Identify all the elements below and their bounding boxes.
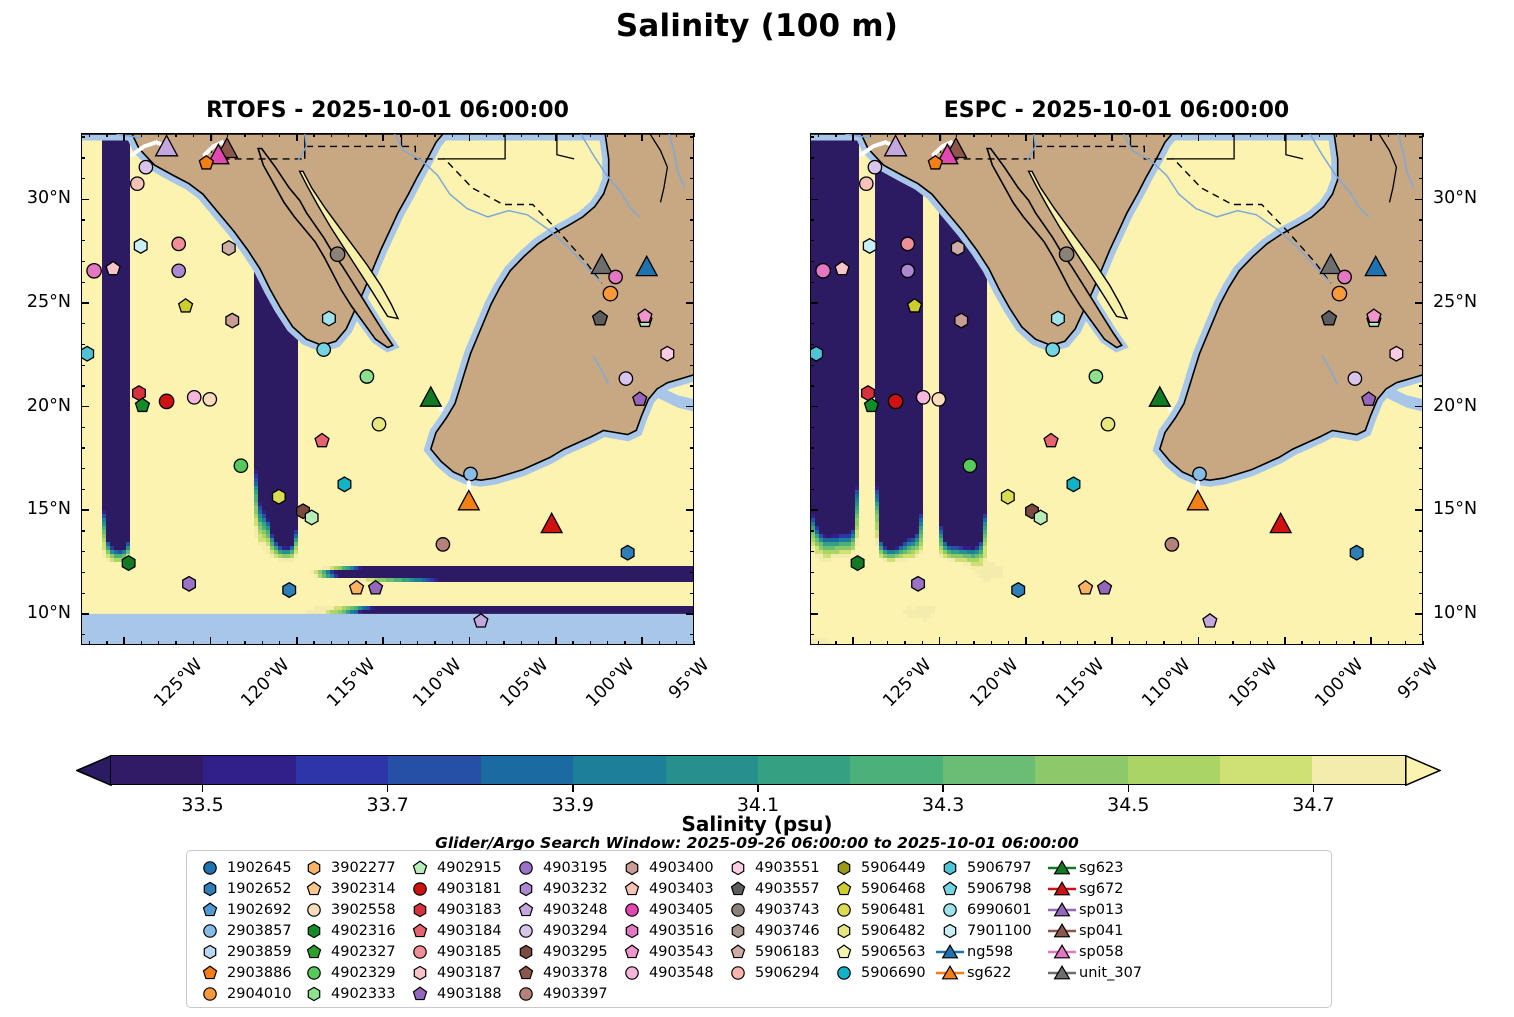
circle-marker-icon bbox=[723, 962, 753, 983]
colorbar-band-11 bbox=[1128, 756, 1220, 784]
legend-item-label: 2903859 bbox=[225, 944, 292, 960]
platform-marker-circle[interactable] bbox=[436, 538, 449, 551]
platform-marker-circle[interactable] bbox=[464, 467, 477, 480]
legend-item-label: 4902333 bbox=[329, 986, 396, 1002]
legend-item[interactable]: unit_307 bbox=[1047, 962, 1171, 983]
platform-marker-hexagon[interactable] bbox=[661, 346, 674, 361]
platform-marker-hexagon[interactable] bbox=[1012, 583, 1025, 598]
legend-item-label: 5906482 bbox=[859, 923, 926, 939]
platform-marker-circle[interactable] bbox=[860, 177, 873, 190]
colorbar-band-5 bbox=[573, 756, 665, 784]
legend-item-label: 4903188 bbox=[435, 986, 502, 1002]
legend-item-label: 4903181 bbox=[435, 881, 502, 897]
colorbar-tick bbox=[942, 785, 944, 792]
platform-marker-circle[interactable] bbox=[1059, 247, 1073, 261]
legend-item-label: 3902558 bbox=[329, 902, 396, 918]
legend-column-6: 5906449590646859064815906482590656359066… bbox=[829, 857, 935, 1003]
y-axis-tick-label: 15°N bbox=[1433, 499, 1513, 519]
legend-column-1: 3902277390231439025584902316490232749023… bbox=[299, 857, 405, 1003]
x-axis-tick-label: 120°W bbox=[237, 655, 293, 711]
circle-marker-icon bbox=[829, 962, 859, 983]
colorbar-cap-right-icon bbox=[1405, 755, 1441, 786]
platform-marker-circle[interactable] bbox=[868, 161, 881, 174]
y-axis-tick-label: 10°N bbox=[1433, 603, 1513, 623]
platform-marker-circle[interactable] bbox=[1165, 538, 1178, 551]
legend-item-label: 5906183 bbox=[753, 944, 820, 960]
platform-marker-hexagon[interactable] bbox=[1390, 346, 1403, 361]
legend-item-label: 4903557 bbox=[753, 881, 820, 897]
y-axis-tick-label: 25°N bbox=[1433, 292, 1513, 312]
platform-marker-circle[interactable] bbox=[619, 372, 632, 385]
platform-marker-circle[interactable] bbox=[603, 286, 617, 300]
platform-marker-circle[interactable] bbox=[963, 459, 976, 472]
platform-marker-circle[interactable] bbox=[901, 264, 914, 277]
legend-item-label: 4903183 bbox=[435, 902, 502, 918]
legend-item-label: 2903857 bbox=[225, 923, 292, 939]
legend-item[interactable]: 4902333 bbox=[299, 983, 405, 1004]
legend-item-label: 4903543 bbox=[647, 944, 714, 960]
y-axis-tick-label: 20°N bbox=[1433, 396, 1513, 416]
colorbar-cap-left-icon bbox=[76, 755, 112, 786]
legend-item-label: 5906797 bbox=[965, 860, 1032, 876]
y-axis-tick-label: 30°N bbox=[1433, 188, 1513, 208]
legend-item[interactable]: 5906294 bbox=[723, 962, 829, 983]
platform-marker-circle[interactable] bbox=[234, 459, 247, 472]
legend-item-label: 4903185 bbox=[435, 944, 502, 960]
circle-marker-icon bbox=[195, 983, 225, 1004]
platform-marker-hexagon[interactable] bbox=[955, 313, 968, 328]
x-axis-tick-label: 120°W bbox=[966, 655, 1022, 711]
platform-marker-circle[interactable] bbox=[932, 393, 945, 406]
platform-marker-circle[interactable] bbox=[188, 391, 201, 404]
circle-marker-icon bbox=[617, 962, 647, 983]
colorbar-tick bbox=[572, 785, 574, 792]
colorbar-band-2 bbox=[296, 756, 388, 784]
platform-marker-hexagon[interactable] bbox=[851, 556, 864, 571]
legend-item-label: 5906294 bbox=[753, 965, 820, 981]
platform-marker-circle[interactable] bbox=[1348, 372, 1361, 385]
platform-legend: 1902645190265219026922903857290385929038… bbox=[186, 850, 1332, 1008]
colorbar-tick bbox=[202, 785, 204, 792]
platform-marker-hexagon[interactable] bbox=[82, 346, 94, 361]
legend-item-label: 2903886 bbox=[225, 965, 292, 981]
platform-marker-hexagon[interactable] bbox=[1350, 545, 1363, 560]
colorbar-band-4 bbox=[481, 756, 573, 784]
x-axis-tick-label: 110°W bbox=[410, 655, 466, 711]
colorbar-title: Salinity (psu) bbox=[0, 812, 1514, 836]
legend-item-label: 4903743 bbox=[753, 902, 820, 918]
platform-marker-hexagon[interactable] bbox=[222, 241, 235, 256]
colorbar-band-13 bbox=[1312, 756, 1404, 784]
legend-item-label: 4903378 bbox=[541, 965, 608, 981]
map-panel-espc: ESPC - 2025-10-01 06:00:00 bbox=[810, 133, 1423, 645]
platform-marker-circle[interactable] bbox=[372, 418, 385, 431]
legend-item-label: 4903397 bbox=[541, 986, 608, 1002]
legend-item-label: 2904010 bbox=[225, 986, 292, 1002]
legend-item-label: 4903187 bbox=[435, 965, 502, 981]
legend-item-label: sp041 bbox=[1077, 923, 1123, 939]
panel-title-rtofs: RTOFS - 2025-10-01 06:00:00 bbox=[81, 98, 694, 123]
legend-item-label: 4903248 bbox=[541, 902, 608, 918]
platform-marker-hexagon[interactable] bbox=[134, 239, 147, 254]
legend-column-8: sg623sg672sp013sp041sp058unit_307 bbox=[1047, 857, 1171, 1003]
platform-marker-hexagon[interactable] bbox=[273, 489, 286, 504]
x-axis-tick-label: 100°W bbox=[1311, 655, 1367, 711]
triangle-line-marker-icon bbox=[1047, 962, 1077, 983]
platform-marker-hexagon[interactable] bbox=[1002, 489, 1015, 504]
y-axis-tick-label: 30°N bbox=[0, 188, 71, 208]
colorbar-tick bbox=[757, 785, 759, 792]
x-axis-tick-label: 95°W bbox=[1394, 655, 1442, 703]
platform-marker-circle[interactable] bbox=[609, 270, 622, 283]
platform-marker-circle[interactable] bbox=[159, 394, 173, 408]
platform-marker-hexagon[interactable] bbox=[863, 239, 876, 254]
legend-column-0: 1902645190265219026922903857290385929038… bbox=[195, 857, 299, 1003]
x-axis-tick-label: 110°W bbox=[1139, 655, 1195, 711]
legend-item-label: 4903294 bbox=[541, 923, 608, 939]
platform-marker-circle[interactable] bbox=[330, 247, 344, 261]
legend-item-label: 4903551 bbox=[753, 860, 820, 876]
y-axis-tick-label: 20°N bbox=[0, 396, 71, 416]
x-axis-tick-label: 95°W bbox=[665, 655, 713, 703]
legend-item[interactable]: sg622 bbox=[935, 962, 1047, 983]
legend-item-label: 4903403 bbox=[647, 881, 714, 897]
platform-marker-hexagon[interactable] bbox=[621, 545, 634, 560]
legend-item-label: 4903195 bbox=[541, 860, 608, 876]
legend-item-label: 4903405 bbox=[647, 902, 714, 918]
platform-marker-circle[interactable] bbox=[203, 393, 216, 406]
colorbar-tick bbox=[1128, 785, 1130, 792]
legend-item-label: 5906563 bbox=[859, 944, 926, 960]
panel-title-espc: ESPC - 2025-10-01 06:00:00 bbox=[810, 98, 1423, 123]
legend-item-label: 1902645 bbox=[225, 860, 292, 876]
legend-item-label: sg672 bbox=[1077, 881, 1123, 897]
colorbar-band-1 bbox=[203, 756, 295, 784]
platform-marker-circle[interactable] bbox=[1193, 467, 1206, 480]
colorbar-band-9 bbox=[943, 756, 1035, 784]
x-axis-tick-label: 115°W bbox=[323, 655, 379, 711]
legend-item-label: 5906798 bbox=[965, 881, 1032, 897]
legend-item-label: 5906449 bbox=[859, 860, 926, 876]
salinity-field bbox=[811, 134, 1423, 645]
legend-item-label: 5906468 bbox=[859, 881, 926, 897]
legend-item-label: 6990601 bbox=[965, 902, 1032, 918]
platform-marker-hexagon[interactable] bbox=[122, 556, 135, 571]
salinity-field bbox=[82, 134, 694, 645]
legend-item-label: sp013 bbox=[1077, 902, 1123, 918]
platform-marker-hexagon[interactable] bbox=[811, 346, 823, 361]
platform-marker-circle[interactable] bbox=[1332, 286, 1346, 300]
legend-item-label: 1902692 bbox=[225, 902, 292, 918]
platform-marker-circle[interactable] bbox=[172, 237, 185, 250]
map-canvas-rtofs[interactable] bbox=[81, 133, 694, 645]
platform-marker-hexagon[interactable] bbox=[183, 577, 196, 592]
platform-marker-circle[interactable] bbox=[87, 264, 101, 278]
map-panel-rtofs: RTOFS - 2025-10-01 06:00:00 bbox=[81, 133, 694, 645]
x-axis-tick-label: 115°W bbox=[1052, 655, 1108, 711]
x-axis-tick-label: 125°W bbox=[151, 655, 207, 711]
platform-marker-circle[interactable] bbox=[816, 264, 830, 278]
colorbar: 33.533.733.934.134.334.534.7 bbox=[76, 755, 1440, 785]
legend-item-label: sp058 bbox=[1077, 944, 1123, 960]
platform-marker-hexagon[interactable] bbox=[283, 583, 296, 598]
platform-marker-hexagon[interactable] bbox=[323, 311, 336, 326]
legend-column-3: 4903195490323249032484903294490329549033… bbox=[511, 857, 617, 1003]
legend-item-label: 3902277 bbox=[329, 860, 396, 876]
platform-marker-circle[interactable] bbox=[172, 264, 185, 277]
platform-marker-circle[interactable] bbox=[139, 161, 152, 174]
legend-column-4: 4903400490340349034054903516490354349035… bbox=[617, 857, 723, 1003]
platform-marker-circle[interactable] bbox=[917, 391, 930, 404]
legend-column-5: 4903551490355749037434903746590618359062… bbox=[723, 857, 829, 1003]
platform-marker-hexagon[interactable] bbox=[338, 477, 351, 492]
colorbar-band-6 bbox=[666, 756, 758, 784]
platform-marker-hexagon[interactable] bbox=[1052, 311, 1065, 326]
platform-marker-hexagon[interactable] bbox=[305, 510, 318, 525]
y-axis-tick-label: 15°N bbox=[0, 499, 71, 519]
legend-item[interactable]: 4903548 bbox=[617, 962, 723, 983]
legend-item-label: 4903400 bbox=[647, 860, 714, 876]
platform-marker-circle[interactable] bbox=[1089, 370, 1102, 383]
legend-item-label: unit_307 bbox=[1077, 965, 1142, 981]
x-axis-tick-label: 105°W bbox=[1225, 655, 1281, 711]
y-axis-tick-label: 25°N bbox=[0, 292, 71, 312]
legend-item-label: 5906690 bbox=[859, 965, 926, 981]
x-axis-tick-label: 125°W bbox=[880, 655, 936, 711]
platform-marker-hexagon[interactable] bbox=[912, 577, 925, 592]
legend-column-2: 4902915490318149031834903184490318549031… bbox=[405, 857, 511, 1003]
page-title: Salinity (100 m) bbox=[0, 8, 1514, 44]
legend-item-label: 4902327 bbox=[329, 944, 396, 960]
platform-marker-circle[interactable] bbox=[1338, 270, 1351, 283]
legend-item-label: 1902652 bbox=[225, 881, 292, 897]
legend-item[interactable]: 2904010 bbox=[195, 983, 299, 1004]
pentagon-marker-icon bbox=[405, 983, 435, 1004]
platform-marker-circle[interactable] bbox=[317, 343, 330, 356]
colorbar-band-10 bbox=[1035, 756, 1127, 784]
legend-item[interactable]: 4903188 bbox=[405, 983, 511, 1004]
legend-item-label: 4903516 bbox=[647, 923, 714, 939]
legend-item-label: 4903295 bbox=[541, 944, 608, 960]
platform-marker-circle[interactable] bbox=[888, 394, 902, 408]
y-axis-tick-label: 10°N bbox=[0, 603, 71, 623]
platform-marker-hexagon[interactable] bbox=[1034, 510, 1047, 525]
colorbar-band-12 bbox=[1220, 756, 1312, 784]
triangle-line-marker-icon bbox=[935, 962, 965, 983]
legend-item-label: 7901100 bbox=[965, 923, 1032, 939]
colorbar-tick bbox=[387, 785, 389, 792]
colorbar-band-8 bbox=[850, 756, 942, 784]
colorbar-gradient bbox=[110, 755, 1406, 785]
colorbar-tick bbox=[1313, 785, 1315, 792]
legend-item-label: 3902314 bbox=[329, 881, 396, 897]
platform-marker-hexagon[interactable] bbox=[1067, 477, 1080, 492]
legend-item[interactable]: 4903397 bbox=[511, 983, 617, 1004]
map-canvas-espc[interactable] bbox=[810, 133, 1423, 645]
platform-marker-hexagon[interactable] bbox=[951, 241, 964, 256]
legend-item-label: 4903184 bbox=[435, 923, 502, 939]
platform-marker-hexagon[interactable] bbox=[226, 313, 239, 328]
platform-marker-circle[interactable] bbox=[901, 237, 914, 250]
colorbar-band-3 bbox=[388, 756, 480, 784]
x-axis-tick-label: 100°W bbox=[582, 655, 638, 711]
platform-marker-circle[interactable] bbox=[1046, 343, 1059, 356]
platform-marker-circle[interactable] bbox=[131, 177, 144, 190]
x-axis-tick-label: 105°W bbox=[496, 655, 552, 711]
colorbar-band-7 bbox=[758, 756, 850, 784]
legend-item-label: 4903232 bbox=[541, 881, 608, 897]
legend-item[interactable]: 5906690 bbox=[829, 962, 935, 983]
legend-item-label: 4902329 bbox=[329, 965, 396, 981]
legend-item-label: 4902915 bbox=[435, 860, 502, 876]
platform-marker-circle[interactable] bbox=[1101, 418, 1114, 431]
legend-column-7: 5906797590679869906017901100ng598sg622 bbox=[935, 857, 1047, 1003]
platform-marker-circle[interactable] bbox=[360, 370, 373, 383]
legend-item-label: 4902316 bbox=[329, 923, 396, 939]
legend-item-label: sg623 bbox=[1077, 860, 1123, 876]
colorbar-band-0 bbox=[111, 756, 203, 784]
legend-item-label: 4903746 bbox=[753, 923, 820, 939]
legend-item-label: 4903548 bbox=[647, 965, 714, 981]
legend-item-label: ng598 bbox=[965, 944, 1013, 960]
hexagon-marker-icon bbox=[299, 983, 329, 1004]
circle-marker-icon bbox=[511, 983, 541, 1004]
legend-columns: 1902645190265219026922903857290385929038… bbox=[195, 857, 1325, 1003]
legend-item-label: sg622 bbox=[965, 965, 1011, 981]
legend-item-label: 5906481 bbox=[859, 902, 926, 918]
